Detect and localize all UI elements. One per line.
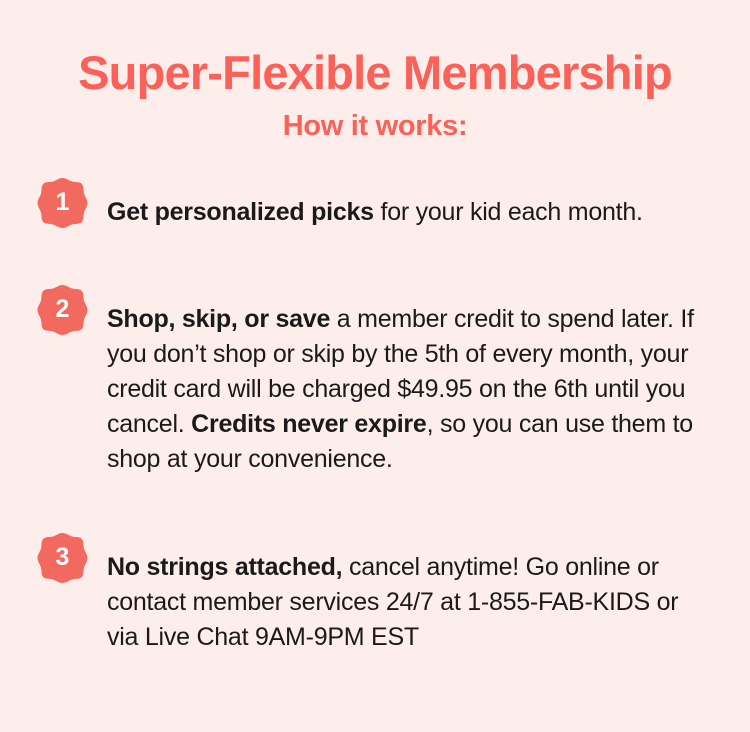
step-description: No strings attached, cancel anytime! Go … <box>107 550 712 655</box>
card-header: Super-Flexible Membership How it works: <box>0 0 750 143</box>
scalloped-rosette-icon: 3 <box>37 532 88 583</box>
list-item: 2 Shop, skip, or save a member credit to… <box>0 277 750 502</box>
step-number: 2 <box>37 284 88 335</box>
list-item: 1 Get personalized picks for your kid ea… <box>0 170 750 255</box>
step-highlight: Shop, skip, or save <box>107 305 330 333</box>
step-highlight-secondary: Credits never expire <box>191 410 426 438</box>
step-body: for your kid each month. <box>374 198 643 226</box>
scalloped-rosette-icon: 1 <box>37 177 88 228</box>
step-highlight: No strings attached, <box>107 553 342 581</box>
membership-info-card: Super-Flexible Membership How it works: … <box>0 0 750 732</box>
step-description: Get personalized picks for your kid each… <box>107 195 712 230</box>
step-number: 3 <box>37 532 88 583</box>
step-number: 1 <box>37 177 88 228</box>
page-title: Super-Flexible Membership <box>0 48 750 97</box>
list-item: 3 No strings attached, cancel anytime! G… <box>0 525 750 680</box>
step-description: Shop, skip, or save a member credit to s… <box>107 302 712 477</box>
steps-list: 1 Get personalized picks for your kid ea… <box>0 170 750 680</box>
step-highlight: Get personalized picks <box>107 198 374 226</box>
subtitle-how-it-works: How it works: <box>0 111 750 143</box>
scalloped-rosette-icon: 2 <box>37 284 88 335</box>
